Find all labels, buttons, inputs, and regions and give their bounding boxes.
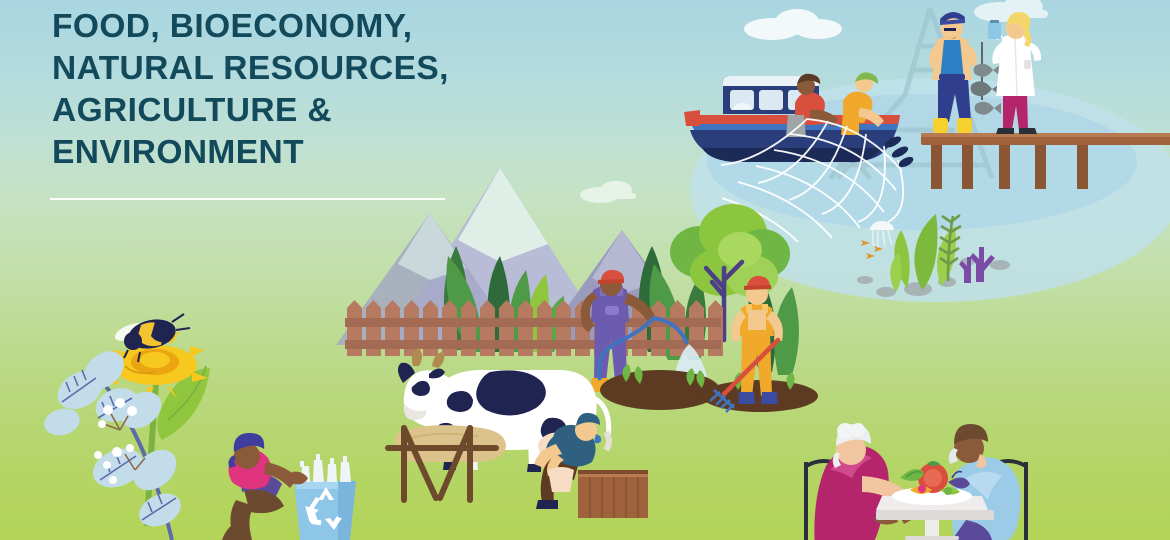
milking-crate (578, 470, 648, 518)
page-title: FOOD, BIOECONOMY, NATURAL RESOURCES, AGR… (52, 6, 572, 174)
dining-couple (806, 423, 1026, 540)
vegetable-plate (892, 461, 972, 505)
caught-fish (971, 64, 1002, 115)
cloud-left (744, 9, 842, 40)
cloud-small (580, 181, 636, 203)
wildflower-bee (41, 314, 210, 540)
title-divider (50, 198, 445, 200)
recycling-bin (294, 481, 356, 540)
diner-woman (814, 423, 928, 540)
title-block: FOOD, BIOECONOMY, NATURAL RESOURCES, AGR… (52, 6, 572, 200)
recycling-woman (222, 433, 356, 540)
banner: FOOD, BIOECONOMY, NATURAL RESOURCES, AGR… (0, 0, 1170, 540)
